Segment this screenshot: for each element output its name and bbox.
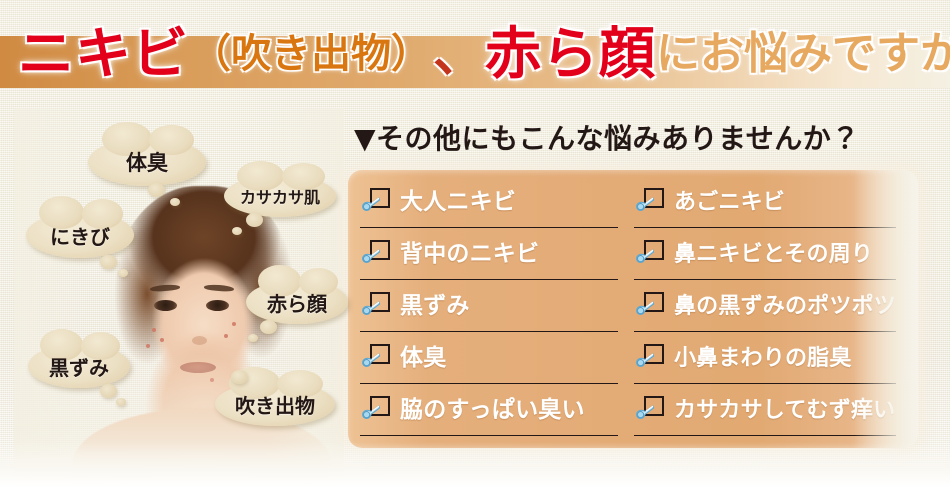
bubble-tail-small <box>118 269 128 277</box>
pointing-hand-icon <box>633 349 657 373</box>
lips <box>180 362 216 373</box>
pointing-hand-icon <box>359 349 383 373</box>
checkbox-icon[interactable] <box>360 237 394 271</box>
bubble-label: 赤ら顔 <box>267 288 327 317</box>
checkbox-icon[interactable] <box>634 289 668 323</box>
pointing-hand-icon <box>633 401 657 425</box>
checklist-item[interactable]: 鼻の黒ずみのポツポツ <box>634 280 896 332</box>
checkbox-icon[interactable] <box>360 341 394 375</box>
checklist-item[interactable]: 脇のすっぱい臭い <box>360 384 618 436</box>
checklist-label: 体臭 <box>400 346 446 369</box>
skin-blemish <box>160 338 164 342</box>
skin-blemish <box>224 334 228 338</box>
header: ニキビ （吹き出物） 、 赤ら顔 にお悩みですか？ <box>0 0 950 108</box>
pointing-hand-icon <box>633 297 657 321</box>
bubble-tail <box>100 255 117 269</box>
checklist-label: あごニキビ <box>674 191 785 213</box>
skin-blemish <box>152 328 156 332</box>
eye-right <box>206 300 229 311</box>
bubble-facial-redness: 赤ら顔 <box>246 280 348 324</box>
pointing-hand-icon <box>359 193 383 217</box>
skin-blemish <box>146 344 150 348</box>
checklist-item[interactable]: あごニキビ <box>634 176 896 228</box>
bubble-acne: にきび <box>26 212 134 258</box>
pointing-hand-icon <box>359 401 383 425</box>
checkbox-icon[interactable] <box>634 341 668 375</box>
header-segment-question: にお悩みですか？ <box>656 32 950 76</box>
bubble-tail-small <box>232 227 242 235</box>
pointing-hand-icon <box>359 297 383 321</box>
pointing-hand-icon <box>633 193 657 217</box>
checklist-label: 鼻の黒ずみのポツポツ <box>674 295 896 317</box>
bubble-label: にきび <box>50 221 110 250</box>
eye-left <box>154 300 177 311</box>
bubble-dry-skin: カサカサ肌 <box>224 175 336 217</box>
skin-blemish <box>232 322 236 326</box>
checklist-item[interactable]: 小鼻まわりの脂臭 <box>634 332 896 384</box>
checkbox-icon[interactable] <box>634 393 668 427</box>
checklist-label: 鼻ニキビとその周り <box>674 243 873 265</box>
bubble-tail <box>260 320 277 334</box>
checkbox-icon[interactable] <box>360 289 394 323</box>
checklist-column-left: 大人ニキビ 背中のニキビ <box>348 176 626 448</box>
checklist-item[interactable]: 大人ニキビ <box>360 176 618 228</box>
bubble-label: 黒ずみ <box>49 352 109 381</box>
right-panel: ▼その他にもこんな悩みありませんか？ 大人ニキ <box>344 108 940 488</box>
header-segment-fukidemono: （吹き出物） <box>191 34 431 74</box>
checklist-label: 大人ニキビ <box>400 190 516 213</box>
checkbox-icon[interactable] <box>634 237 668 271</box>
checklist-box: 大人ニキビ 背中のニキビ <box>348 170 918 448</box>
bubble-label: 体臭 <box>126 147 168 177</box>
bubble-body-odor: 体臭 <box>88 138 206 186</box>
checklist-columns: 大人ニキビ 背中のニキビ <box>348 170 918 448</box>
sub-heading: ▼その他にもこんな悩みありませんか？ <box>354 117 860 157</box>
checklist-label: 小鼻まわりの脂臭 <box>674 347 852 369</box>
checkbox-icon[interactable] <box>360 185 394 219</box>
bubble-tail-small <box>170 198 180 206</box>
bubble-pimples: 吹き出物 <box>215 382 335 426</box>
checklist-label: 脇のすっぱい臭い <box>400 398 585 421</box>
pointing-hand-icon <box>359 245 383 269</box>
bubble-label: カサカサ肌 <box>240 184 320 208</box>
bubble-tail <box>100 384 117 398</box>
skin-blemish <box>210 378 214 382</box>
header-segment-akaragao: 赤ら顔 <box>485 26 656 82</box>
header-segment-comma: 、 <box>433 28 485 80</box>
checklist-label: カサカサしてむず痒い <box>674 399 895 421</box>
bubble-tail-small <box>116 398 126 406</box>
checklist-item[interactable]: カサカサしてむず痒い <box>634 384 896 436</box>
header-title: ニキビ （吹き出物） 、 赤ら顔 にお悩みですか？ <box>18 12 948 96</box>
bubble-dark-spots: 黒ずみ <box>28 344 130 388</box>
checklist-item[interactable]: 背中のニキビ <box>360 228 618 280</box>
checkbox-icon[interactable] <box>634 185 668 219</box>
bubble-tail <box>246 213 263 227</box>
skin-trouble-banner: ニキビ （吹き出物） 、 赤ら顔 にお悩みですか？ 体臭 <box>0 0 950 488</box>
checklist-item[interactable]: 体臭 <box>360 332 618 384</box>
header-segment-nikibi: ニキビ <box>18 26 189 82</box>
bubble-tail <box>148 183 165 197</box>
checklist-label: 背中のニキビ <box>400 242 539 265</box>
checklist-column-right: あごニキビ 鼻ニキビとその周り <box>626 176 918 448</box>
eyebrow-right <box>204 284 234 292</box>
checklist-item[interactable]: 黒ずみ <box>360 280 618 332</box>
eyebrow-left <box>150 284 180 292</box>
bubble-tail-small <box>248 334 258 342</box>
checklist-label: 黒ずみ <box>400 294 470 317</box>
checkbox-icon[interactable] <box>360 393 394 427</box>
nose <box>192 336 207 345</box>
checklist-item[interactable]: 鼻ニキビとその周り <box>634 228 896 280</box>
pointing-hand-icon <box>633 245 657 269</box>
bubble-tail <box>231 370 248 384</box>
bubble-label: 吹き出物 <box>235 390 315 419</box>
